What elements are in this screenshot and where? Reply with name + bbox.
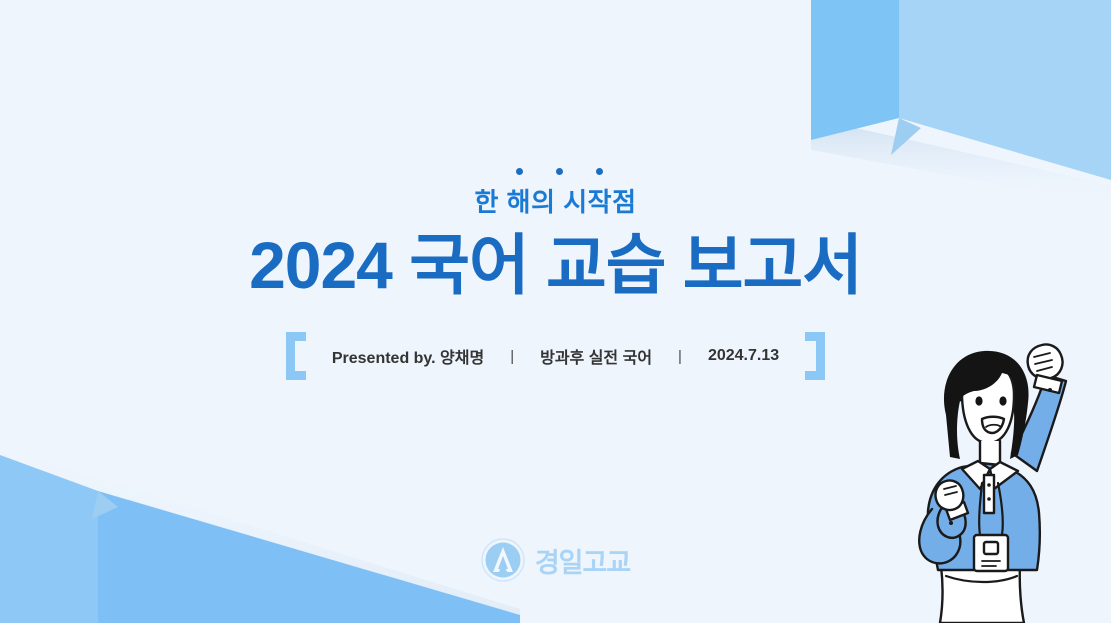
slide-title: 2024 국어 교습 보고서 bbox=[0, 229, 1111, 303]
person-illustration-icon bbox=[894, 323, 1109, 623]
metadata-items: Presented by. 양채명 | 방과후 실전 국어 | 2024.7.1… bbox=[306, 344, 805, 368]
mountain-emblem-icon bbox=[481, 538, 525, 582]
date-label: 2024.7.13 bbox=[682, 347, 805, 365]
presenter-label: Presented by. 양채명 bbox=[306, 344, 510, 368]
bottom-left-ribbon-decoration bbox=[0, 433, 520, 623]
dot-3 bbox=[596, 168, 603, 175]
cheering-teacher-illustration bbox=[894, 323, 1109, 623]
decorative-dots bbox=[0, 168, 1111, 182]
dot-2 bbox=[556, 168, 563, 175]
folded-ribbon-icon bbox=[0, 433, 520, 623]
left-bracket-icon bbox=[286, 332, 306, 380]
right-bracket-icon bbox=[805, 332, 825, 380]
presentation-slide: 한 해의 시작점 2024 국어 교습 보고서 Presented by. 양채… bbox=[0, 0, 1111, 623]
course-label: 방과후 실전 국어 bbox=[514, 344, 678, 368]
dot-1 bbox=[516, 168, 523, 175]
slide-subtitle: 한 해의 시작점 bbox=[0, 186, 1111, 219]
logo-text: 경일고교 bbox=[535, 541, 630, 580]
